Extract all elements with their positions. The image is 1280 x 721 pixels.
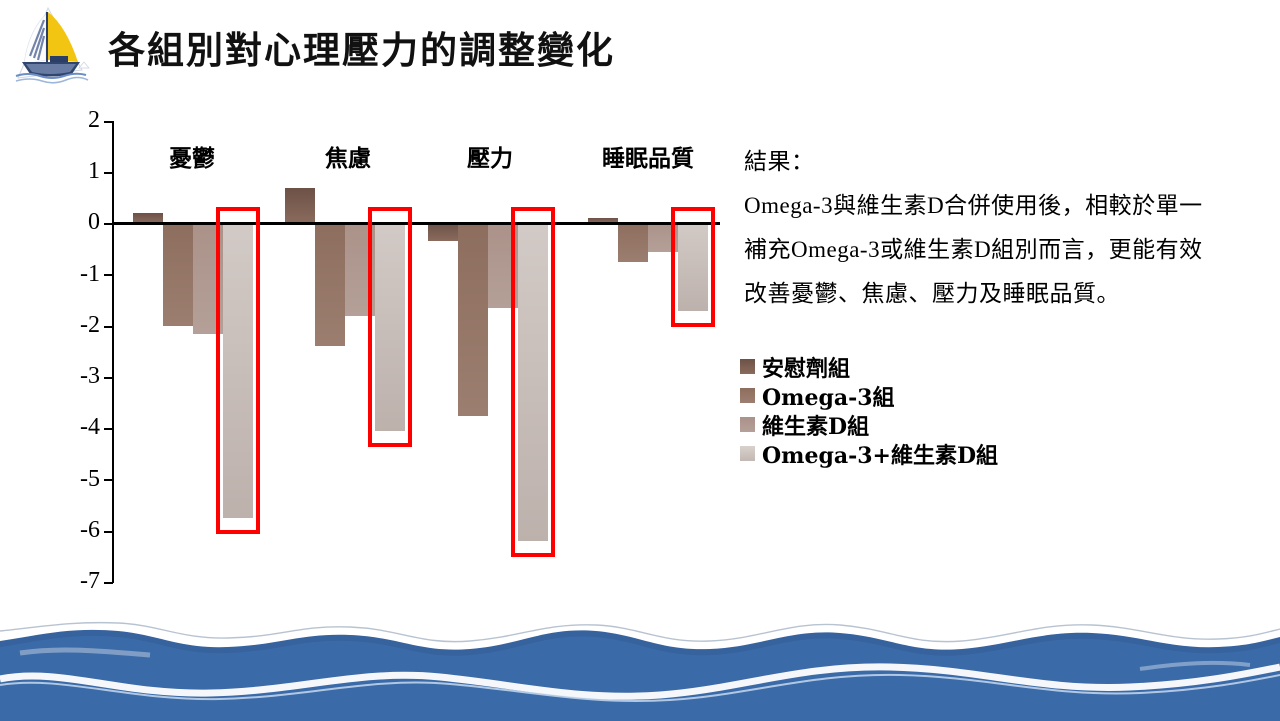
legend-swatch-icon: [740, 388, 755, 403]
y-axis-tick: [104, 428, 113, 430]
legend-item-combined[interactable]: Omega-3+維生素D組: [740, 439, 1140, 468]
y-tick-label: 0: [56, 210, 100, 234]
y-tick-label: -3: [56, 364, 100, 388]
zero-baseline: [112, 222, 720, 225]
y-tick-label: -1: [56, 262, 100, 286]
highlight-box-2: [368, 207, 412, 446]
y-tick-label: -2: [56, 313, 100, 337]
result-panel: 結果： Omega-3與維生素D合併使用後，相較於單一 補充Omega-3或維生…: [744, 140, 1264, 316]
y-tick-label: -5: [56, 467, 100, 491]
y-axis-tick-labels: 2 1 0 -1 -2 -3 -4 -5 -6 -7: [52, 0, 100, 610]
legend-swatch-icon: [740, 417, 755, 432]
legend-item-vitamind[interactable]: 維生素D組: [740, 410, 1140, 439]
bar-3-1: [428, 223, 458, 241]
y-tick-label: 1: [56, 159, 100, 183]
highlight-box-1: [216, 207, 260, 534]
y-axis-tick: [104, 121, 113, 123]
result-heading: 結果：: [744, 140, 1264, 184]
y-axis-tick: [104, 479, 113, 481]
y-axis-tick: [104, 377, 113, 379]
result-line-2: 補充Omega-3或維生素D組別而言，更能有效: [744, 228, 1264, 272]
y-tick-label: -7: [56, 569, 100, 593]
category-label-3: 壓力: [467, 139, 513, 173]
bar-2-1: [285, 188, 315, 224]
wave-footer-decoration: [0, 609, 1280, 721]
slide-canvas: 各組別對心理壓力的調整變化 2 1 0 -1 -2 -3 -4 -5 -6 -7…: [0, 0, 1280, 721]
bar-1-2: [163, 223, 193, 325]
category-label-2: 焦慮: [325, 139, 371, 173]
bar-2-2: [315, 223, 345, 346]
y-axis-tick: [104, 326, 113, 328]
y-axis-tick: [104, 172, 113, 174]
y-axis-tick: [104, 531, 113, 533]
legend-label: 安慰劑組: [762, 351, 850, 383]
chart-legend: 安慰劑組 Omega-3組 維生素D組 Omega-3+維生素D組: [740, 352, 1140, 468]
legend-item-placebo[interactable]: 安慰劑組: [740, 352, 1140, 381]
result-line-3: 改善憂鬱、焦慮、壓力及睡眠品質。: [744, 272, 1264, 316]
bar-4-2: [618, 223, 648, 261]
y-axis-tick: [104, 274, 113, 276]
bar-3-2: [458, 223, 488, 415]
y-axis-line: [112, 121, 114, 583]
legend-label: Omega-3組: [762, 380, 895, 412]
result-line-1: Omega-3與維生素D合併使用後，相較於單一: [744, 184, 1264, 228]
legend-swatch-icon: [740, 359, 755, 374]
legend-label: 維生素D組: [762, 409, 869, 441]
legend-label: Omega-3+維生素D組: [762, 438, 998, 470]
legend-swatch-icon: [740, 446, 755, 461]
y-tick-label: 2: [56, 108, 100, 132]
highlight-box-3: [511, 207, 555, 557]
bar-chart: 2 1 0 -1 -2 -3 -4 -5 -6 -7 憂鬱 焦慮 壓力 睡眠品質: [0, 0, 740, 610]
category-label-4: 睡眠品質: [602, 139, 694, 173]
highlight-box-4: [671, 207, 715, 326]
y-axis-tick: [104, 582, 113, 584]
legend-item-omega3[interactable]: Omega-3組: [740, 381, 1140, 410]
category-label-1: 憂鬱: [169, 139, 215, 173]
y-tick-label: -4: [56, 415, 100, 439]
y-tick-label: -6: [56, 518, 100, 542]
